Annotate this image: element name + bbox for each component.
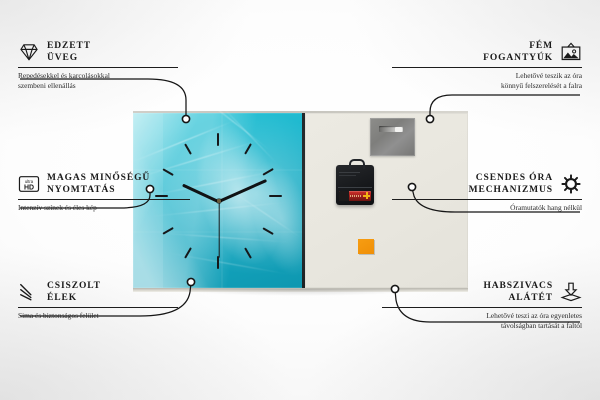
feature-desc-line1: Repedésekkel és karcolásokkal	[18, 71, 178, 81]
infographic-canvas: EDZETT ÜVEG Repedésekkel és karcolásokka…	[0, 0, 600, 400]
feature-desc-line1: Lehetővé teszi az óra egyenletes	[382, 311, 582, 321]
bracket-hole	[395, 127, 402, 132]
feature-rule	[382, 307, 582, 308]
feature-header: ultra HD MAGAS MINŐSÉGŰ NYOMTATÁS	[18, 172, 190, 196]
hour-tick	[217, 256, 219, 269]
feature-silent-mechanism[interactable]: CSENDES ÓRA MECHANIZMUS Óramutatók hang …	[392, 172, 582, 213]
hour-tick	[269, 195, 282, 197]
feature-rule	[392, 199, 582, 200]
hour-tick	[162, 227, 174, 235]
foam-pad	[358, 239, 374, 254]
feature-desc-line1: Lehetővé teszik az óra	[392, 71, 582, 81]
diamond-icon	[18, 41, 40, 63]
feature-desc-line2: szembeni ellenállás	[18, 81, 178, 91]
ultra-hd-icon: ultra HD	[18, 173, 40, 195]
feature-header: CSISZOLT ÉLEK	[18, 280, 178, 304]
feature-desc-line1: Intenzív színek és éles kép	[18, 203, 190, 213]
feature-rule	[18, 67, 178, 68]
hour-tick	[184, 143, 192, 155]
feature-title: HABSZIVACS ALÁTÉT	[483, 280, 553, 304]
svg-text:HD: HD	[24, 185, 34, 192]
svg-text:ultra: ultra	[25, 179, 34, 184]
minute-hand	[218, 179, 267, 203]
mechanism-hanging-loop	[349, 159, 365, 169]
mechanism-detail	[339, 175, 356, 176]
feature-rule	[18, 307, 178, 308]
second-hand	[218, 201, 219, 257]
mechanism-divider	[338, 187, 372, 188]
foam-pad-arrow-icon	[560, 281, 582, 303]
feature-desc-line1: Sima és biztonságos felület	[18, 311, 178, 321]
feature-title: FÉM FOGANTYÚK	[483, 40, 553, 64]
metal-hanger-bracket	[370, 118, 415, 156]
feature-header: HABSZIVACS ALÁTÉT	[382, 280, 582, 304]
feature-high-quality-print[interactable]: ultra HD MAGAS MINŐSÉGŰ NYOMTATÁS Intenz…	[18, 172, 190, 213]
gear-icon	[560, 173, 582, 195]
hour-tick	[184, 247, 192, 259]
hour-tick	[244, 247, 252, 259]
feature-desc-line1: Óramutatók hang nélkül	[392, 203, 582, 213]
hour-tick	[262, 168, 274, 176]
battery-label	[350, 195, 362, 197]
feature-title: CSENDES ÓRA MECHANIZMUS	[469, 172, 553, 196]
battery-terminal	[339, 191, 349, 201]
feature-rule	[18, 199, 190, 200]
feature-header: CSENDES ÓRA MECHANIZMUS	[392, 172, 582, 196]
picture-frame-hook-icon	[560, 41, 582, 63]
polished-edges-icon	[18, 281, 40, 303]
feature-desc-line2: távolságban tartását a faltól	[382, 321, 582, 331]
feature-tempered-glass[interactable]: EDZETT ÜVEG Repedésekkel és karcolásokka…	[18, 40, 178, 90]
feature-title: MAGAS MINŐSÉGŰ NYOMTATÁS	[47, 172, 150, 196]
clock-center-cap	[217, 199, 221, 203]
feature-metal-handles[interactable]: FÉM FOGANTYÚK Lehetővé teszik az óra kön…	[392, 40, 582, 90]
battery-plus-mark	[363, 192, 370, 199]
mechanism-detail	[339, 172, 360, 173]
hour-tick	[262, 227, 274, 235]
feature-header: EDZETT ÜVEG	[18, 40, 178, 64]
feature-title: EDZETT ÜVEG	[47, 40, 91, 64]
hour-tick	[217, 133, 219, 146]
feature-polished-edges[interactable]: CSISZOLT ÉLEK Sima és biztonságos felüle…	[18, 280, 178, 321]
clock-mechanism	[336, 165, 374, 205]
feature-rule	[392, 67, 582, 68]
feature-title: CSISZOLT ÉLEK	[47, 280, 101, 304]
feature-foam-pad[interactable]: HABSZIVACS ALÁTÉT Lehetővé teszi az óra …	[382, 280, 582, 330]
feature-desc-line2: könnyű felszerelését a falra	[392, 81, 582, 91]
feature-header: FÉM FOGANTYÚK	[392, 40, 582, 64]
hour-tick	[244, 143, 252, 155]
